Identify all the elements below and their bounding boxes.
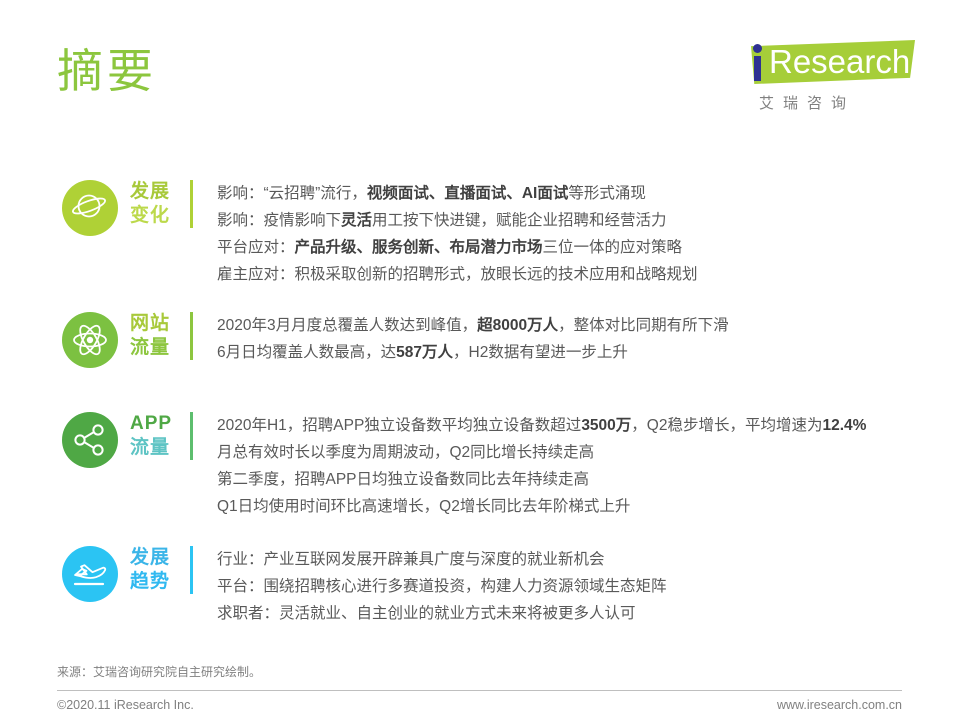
- copyright-text: ©2020.11 iResearch Inc.: [57, 698, 194, 712]
- body-text: 影响：疫情影响下: [217, 212, 341, 229]
- planet-icon: [62, 180, 118, 236]
- section-icon-container: [0, 546, 118, 602]
- section-text-line: 2020年H1，招聘APP独立设备数平均独立设备数超过3500万，Q2稳步增长，…: [217, 412, 959, 439]
- logo-brand-cn: 艾瑞咨询: [759, 92, 855, 113]
- section-text-line: 求职者：灵活就业、自主创业的就业方式未来将被更多人认可: [217, 600, 959, 627]
- logo-i-dot-icon: [753, 44, 762, 53]
- body-text: 2020年H1，招聘APP独立设备数平均独立设备数超过: [217, 417, 581, 434]
- body-text: 平台应对：: [217, 239, 295, 256]
- emphasis-text: 3500万: [581, 417, 631, 434]
- website-url[interactable]: www.iresearch.com.cn: [777, 698, 902, 712]
- body-text: 三位一体的应对策略: [543, 239, 683, 256]
- body-text: 影响：“云招聘”流行，: [217, 185, 367, 202]
- section-label-line-top: 网站: [130, 312, 184, 336]
- summary-section: 网站流量2020年3月月度总覆盖人数达到峰值，超8000万人，整体对比同期有所下…: [0, 312, 959, 368]
- share-icon: [62, 412, 118, 468]
- section-text-line: 影响：疫情影响下灵活用工按下快进键，赋能企业招聘和经营活力: [217, 207, 959, 234]
- section-text-line: Q1日均使用时间环比高速增长，Q2增长同比去年阶梯式上升: [217, 493, 959, 520]
- section-text-line: 6月日均覆盖人数最高，达587万人，H2数据有望进一步上升: [217, 339, 959, 366]
- body-text: 6月日均覆盖人数最高，达: [217, 344, 396, 361]
- section-label-line-top: 发展: [130, 546, 184, 570]
- logo-i-stem-icon: [754, 56, 761, 81]
- body-text: ，H2数据有望进一步上升: [453, 344, 628, 361]
- summary-section: 发展变化影响：“云招聘”流行，视频面试、直播面试、AI面试等形式涌现影响：疫情影…: [0, 180, 959, 288]
- body-text: 行业：产业互联网发展开辟兼具广度与深度的就业新机会: [217, 551, 605, 568]
- body-text: 雇主应对：积极采取创新的招聘形式，放眼长远的技术应用和战略规划: [217, 266, 698, 283]
- body-text: 平台：围绕招聘核心进行多赛道投资，构建人力资源领域生态矩阵: [217, 578, 667, 595]
- body-text: 用工按下快进键，赋能企业招聘和经营活力: [372, 212, 667, 229]
- emphasis-text: 灵活: [341, 212, 372, 229]
- section-label-line-top: APP: [130, 412, 184, 436]
- body-text: ，Q2稳步增长，平均增速为: [631, 417, 822, 434]
- iresearch-logo: Research 艾瑞咨询: [729, 36, 919, 116]
- section-text-line: 2020年3月月度总覆盖人数达到峰值，超8000万人，整体对比同期有所下滑: [217, 312, 959, 339]
- section-text-line: 平台：围绕招聘核心进行多赛道投资，构建人力资源领域生态矩阵: [217, 573, 959, 600]
- emphasis-text: 587万人: [396, 344, 453, 361]
- body-text: 2020年3月月度总覆盖人数达到峰值，: [217, 317, 477, 334]
- summary-section: 发展趋势行业：产业互联网发展开辟兼具广度与深度的就业新机会平台：围绕招聘核心进行…: [0, 546, 959, 627]
- summary-section: APP流量2020年H1，招聘APP独立设备数平均独立设备数超过3500万，Q2…: [0, 412, 959, 520]
- emphasis-text: 12.4%: [822, 417, 866, 434]
- section-text-line: 月总有效时长以季度为周期波动，Q2同比增长持续走高: [217, 439, 959, 466]
- section-label-line-bottom: 趋势: [130, 570, 184, 594]
- section-label: APP流量: [118, 412, 184, 460]
- logo-brand-text: Research: [769, 42, 910, 82]
- section-label-line-bottom: 变化: [130, 204, 184, 228]
- section-label: 网站流量: [118, 312, 184, 360]
- section-label-line-bottom: 流量: [130, 336, 184, 360]
- section-text-block: 2020年3月月度总覆盖人数达到峰值，超8000万人，整体对比同期有所下滑6月日…: [193, 312, 959, 366]
- logo-mark: Research: [729, 36, 919, 88]
- section-text-line: 平台应对：产品升级、服务创新、布局潜力市场三位一体的应对策略: [217, 234, 959, 261]
- body-text: ，整体对比同期有所下滑: [558, 317, 729, 334]
- section-text-block: 2020年H1，招聘APP独立设备数平均独立设备数超过3500万，Q2稳步增长，…: [193, 412, 959, 520]
- section-text-line: 行业：产业互联网发展开辟兼具广度与深度的就业新机会: [217, 546, 959, 573]
- emphasis-text: 超8000万人: [477, 317, 558, 334]
- airplane-takeoff-icon: [62, 546, 118, 602]
- section-text-line: 雇主应对：积极采取创新的招聘形式，放眼长远的技术应用和战略规划: [217, 261, 959, 288]
- body-text: 求职者：灵活就业、自主创业的就业方式未来将被更多人认可: [217, 605, 636, 622]
- body-text: 等形式涌现: [568, 185, 646, 202]
- section-label-line-bottom: 流量: [130, 436, 184, 460]
- body-text: Q1日均使用时间环比高速增长，Q2增长同比去年阶梯式上升: [217, 498, 630, 515]
- body-text: 月总有效时长以季度为周期波动，Q2同比增长持续走高: [217, 444, 594, 461]
- section-text-line: 影响：“云招聘”流行，视频面试、直播面试、AI面试等形式涌现: [217, 180, 959, 207]
- source-note: 来源：艾瑞咨询研究院自主研究绘制。: [57, 663, 261, 680]
- body-text: 第二季度，招聘APP日均独立设备数同比去年持续走高: [217, 471, 589, 488]
- footer-divider: [57, 690, 902, 691]
- section-label-line-top: 发展: [130, 180, 184, 204]
- atom-icon: [62, 312, 118, 368]
- section-label: 发展趋势: [118, 546, 184, 594]
- emphasis-text: 视频面试、直播面试、AI面试: [367, 185, 569, 202]
- emphasis-text: 产品升级、服务创新、布局潜力市场: [295, 239, 543, 256]
- section-label: 发展变化: [118, 180, 184, 228]
- section-icon-container: [0, 412, 118, 468]
- section-text-block: 影响：“云招聘”流行，视频面试、直播面试、AI面试等形式涌现影响：疫情影响下灵活…: [193, 180, 959, 288]
- section-icon-container: [0, 180, 118, 236]
- section-text-block: 行业：产业互联网发展开辟兼具广度与深度的就业新机会平台：围绕招聘核心进行多赛道投…: [193, 546, 959, 627]
- section-text-line: 第二季度，招聘APP日均独立设备数同比去年持续走高: [217, 466, 959, 493]
- section-icon-container: [0, 312, 118, 368]
- page-title: 摘要: [57, 42, 157, 100]
